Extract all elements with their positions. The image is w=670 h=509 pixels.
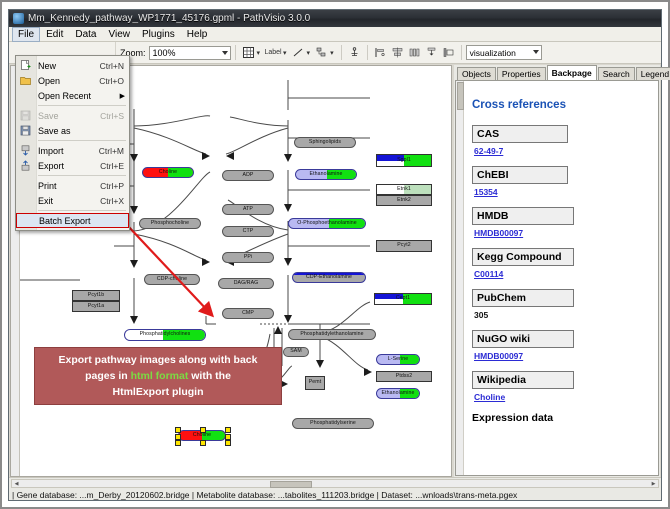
cross-references-title: Cross references [472, 99, 650, 111]
gene-product-label: Etnk1 [397, 187, 411, 192]
metabolite-label: Choline [193, 433, 211, 438]
file-menu-items: NewCtrl+NOpenCtrl+OOpen Recent▶SaveCtrl+… [16, 58, 129, 228]
file-menu-item-export[interactable]: ExportCtrl+E [16, 158, 129, 173]
tab-properties[interactable]: Properties [497, 67, 546, 80]
menu-item-label: Save [38, 111, 100, 121]
anchor-icon[interactable] [347, 45, 362, 60]
menu-item-label: New [38, 61, 100, 71]
screenshot-root: Mm_Kennedy_pathway_WP1771_45176.gpml - P… [0, 0, 670, 509]
xref-link[interactable]: Choline [474, 392, 650, 402]
metabolite-label: Ethanolamine [310, 172, 343, 177]
menu-item-shortcut: Ctrl+N [100, 61, 129, 71]
menu-item-label: Import [38, 146, 99, 156]
selection-handle[interactable] [175, 427, 181, 433]
xref-link[interactable]: 62-49-7 [474, 146, 650, 156]
tab-backpage[interactable]: Backpage [547, 65, 597, 80]
menu-bar: File Edit Data View Plugins Help [9, 27, 661, 42]
annotation-line-1: Export pathway images along with back [41, 352, 275, 368]
menu-separator [38, 175, 126, 176]
menu-separator [38, 105, 126, 106]
tab-legend[interactable]: Legend [636, 67, 670, 80]
metabolite-label: Phosphatidylethanolamine [300, 332, 363, 337]
menu-plugins[interactable]: Plugins [136, 28, 181, 41]
xref-database-header: CAS [472, 125, 568, 143]
visualization-combo[interactable]: visualization [466, 45, 542, 60]
annotation-line-2-post: with the [188, 370, 231, 382]
menu-item-label: Exit [38, 196, 100, 206]
tab-objects[interactable]: Objects [457, 67, 496, 80]
file-menu-item-save[interactable]: SaveCtrl+S [16, 108, 129, 123]
annotation-callout: Export pathway images along with back pa… [34, 347, 282, 405]
cross-reference-list: CAS62-49-7ChEBI15354HMDBHMDB00097Kegg Co… [472, 125, 650, 402]
file-menu-item-print[interactable]: PrintCtrl+P [16, 178, 129, 193]
menu-item-label: Open Recent [38, 91, 120, 101]
xref-link[interactable]: 15354 [474, 187, 650, 197]
stack-icon[interactable] [424, 45, 439, 60]
backpage-content: Cross references CAS62-49-7ChEBI15354HMD… [464, 81, 658, 475]
hscrollbar-thumb[interactable] [270, 481, 312, 488]
side-panel: Objects Properties Backpage Search Legen… [454, 65, 660, 477]
metabolite-node[interactable]: Ethanolamine [376, 388, 420, 399]
line-icon[interactable] [291, 45, 306, 60]
menu-edit[interactable]: Edit [40, 28, 69, 41]
gene-product-label: Ptdss2 [396, 374, 412, 379]
selection-handle[interactable] [225, 434, 231, 440]
menu-separator [38, 210, 126, 211]
file-menu-item-open[interactable]: OpenCtrl+O [16, 73, 129, 88]
selection-handle[interactable] [175, 440, 181, 446]
metabolite-node[interactable]: CDP-Ethanolamine [292, 272, 366, 283]
metabolite-node[interactable]: Phosphatidylserine [292, 418, 374, 429]
gene-product-label: Pcyt2 [397, 243, 410, 248]
metabolite-node[interactable]: Sphingolipids [294, 137, 356, 148]
menu-item-shortcut: Ctrl+E [100, 161, 129, 171]
metabolite-label: CDP-Ethanolamine [306, 275, 352, 280]
label-button[interactable]: Label [264, 45, 282, 60]
metabolite-label: Phosphatidylserine [310, 421, 356, 426]
file-menu-item-new[interactable]: NewCtrl+N [16, 58, 129, 73]
status-bar: ◀ ▶ | Gene database: ...m_Derby_20120602… [9, 477, 661, 500]
gene-product-node[interactable]: Etnk2 [376, 195, 432, 206]
submenu-arrow-icon: ▶ [120, 92, 129, 100]
gene-product-node[interactable]: Pemt [305, 376, 325, 390]
file-menu-item-import[interactable]: ImportCtrl+M [16, 143, 129, 158]
title-bar: Mm_Kennedy_pathway_WP1771_45176.gpml - P… [9, 10, 661, 27]
toolbar-separator-4 [461, 45, 462, 60]
file-menu-dropdown[interactable]: NewCtrl+NOpenCtrl+OOpen Recent▶SaveCtrl+… [15, 55, 130, 231]
xref-value: 305 [474, 310, 650, 320]
gene-product-node[interactable]: Sgpl1 [376, 154, 432, 167]
metabolite-node[interactable]: O-Phosphoethanolamine [288, 218, 366, 229]
align-left-icon[interactable] [373, 45, 388, 60]
zoom-combo[interactable]: 100% [149, 46, 231, 60]
menu-item-label: Open [38, 76, 99, 86]
file-menu-item-exit[interactable]: ExitCtrl+X [16, 193, 129, 208]
selection-handle[interactable] [225, 427, 231, 433]
grid-button[interactable] [241, 45, 256, 60]
grid-dropdown-icon[interactable]: ▾ [257, 49, 261, 57]
distribute-icon[interactable] [407, 45, 422, 60]
open-folder-icon [19, 75, 31, 86]
xref-database-header: Wikipedia [472, 371, 574, 389]
metabolite-node[interactable]: Phosphatidylethanolamine [288, 329, 376, 340]
xref-link[interactable]: HMDB00097 [474, 228, 650, 238]
menu-item-shortcut: Ctrl+O [99, 76, 129, 86]
selection-handle[interactable] [200, 440, 206, 446]
new-document-icon [19, 60, 31, 71]
side-panel-tabs: Objects Properties Backpage Search Legen… [454, 65, 660, 80]
gene-product-node[interactable]: Etnk1 [376, 184, 432, 195]
gene-product-label: Sgpl1 [397, 158, 411, 163]
backpage-panel: Cross references CAS62-49-7ChEBI15354HMD… [455, 80, 659, 476]
metabolite-node[interactable]: L-Serine [376, 354, 420, 365]
menu-file[interactable]: File [12, 27, 40, 42]
xref-database-header: HMDB [472, 207, 574, 225]
save-as-icon [19, 125, 31, 136]
menu-item-shortcut: Ctrl+X [100, 196, 129, 206]
app-icon [13, 13, 24, 24]
tab-search[interactable]: Search [598, 67, 635, 80]
zoom-value: 100% [153, 48, 176, 58]
shape-icon[interactable] [314, 45, 329, 60]
file-menu-item-batch-export[interactable]: Batch Export [16, 213, 129, 228]
align-center-icon[interactable] [390, 45, 405, 60]
pathvisio-application-window: Mm_Kennedy_pathway_WP1771_45176.gpml - P… [8, 9, 662, 501]
menu-item-shortcut: Ctrl+M [99, 146, 129, 156]
xref-link[interactable]: C00114 [474, 269, 650, 279]
menu-separator [38, 140, 126, 141]
metabolite-label: Sphingolipids [309, 140, 341, 145]
toolbar-separator-2 [341, 45, 342, 60]
xref-link[interactable]: HMDB00097 [474, 351, 650, 361]
xref-database-header: ChEBI [472, 166, 568, 184]
selection-handle[interactable] [175, 434, 181, 440]
file-menu-item-save-as[interactable]: Save as [16, 123, 129, 138]
menu-item-shortcut: Ctrl+S [100, 111, 129, 121]
scroll-left-icon[interactable]: ◀ [12, 480, 21, 487]
save-disk-icon [19, 110, 31, 121]
menu-item-label: Print [38, 181, 100, 191]
annotation-line-2: pages in html format with the [41, 368, 275, 384]
metabolite-label: O-Phosphoethanolamine [297, 221, 357, 226]
selection-handle[interactable] [225, 440, 231, 446]
import-icon [19, 145, 31, 156]
xref-database-header: PubChem [472, 289, 574, 307]
gene-product-label: Cept1 [396, 296, 410, 301]
scrollbar-thumb[interactable] [457, 82, 464, 110]
annotation-highlight: html format [131, 370, 189, 382]
expression-data-title: Expression data [472, 412, 650, 424]
xref-database-header: NuGO wiki [472, 330, 574, 348]
export-icon [19, 160, 31, 171]
menu-data[interactable]: Data [69, 28, 102, 41]
annotation-line-2-pre: pages in [85, 370, 131, 382]
label-dropdown-icon[interactable]: ▾ [283, 49, 287, 57]
gene-product-node[interactable]: Cept1 [374, 293, 432, 305]
scroll-right-icon[interactable]: ▶ [649, 480, 658, 487]
menu-view[interactable]: View [102, 28, 136, 41]
metabolite-label: SAM [290, 349, 302, 354]
horizontal-scrollbar[interactable]: ◀ ▶ [11, 479, 659, 488]
gene-product-label: Pemt [309, 380, 322, 385]
line-dropdown-icon[interactable]: ▾ [307, 49, 311, 57]
annotation-line-3: HtmlExport plugin [41, 384, 275, 400]
window-title: Mm_Kennedy_pathway_WP1771_45176.gpml - P… [28, 13, 310, 24]
status-text: | Gene database: ...m_Derby_20120602.bri… [9, 488, 661, 500]
menu-item-shortcut: Ctrl+P [100, 181, 129, 191]
toolbar-separator [235, 45, 236, 60]
metabolite-label: L-Serine [388, 357, 408, 362]
chevron-down-icon [222, 51, 228, 55]
menu-item-label: Batch Export [39, 216, 128, 226]
metabolite-label: Ethanolamine [382, 391, 415, 396]
group-icon[interactable] [441, 45, 456, 60]
metabolite-node[interactable]: Ethanolamine [295, 169, 357, 180]
gene-product-label: Etnk2 [397, 198, 411, 203]
menu-item-label: Export [38, 161, 100, 171]
gene-product-node[interactable]: Pcyt2 [376, 240, 432, 252]
toolbar-separator-3 [367, 45, 368, 60]
gene-product-node[interactable]: Ptdss2 [376, 371, 432, 382]
menu-help[interactable]: Help [181, 28, 214, 41]
shape-dropdown-icon[interactable]: ▾ [330, 49, 334, 57]
backpage-scrollbar[interactable] [456, 81, 464, 475]
file-menu-item-open-recent[interactable]: Open Recent▶ [16, 88, 129, 103]
xref-database-header: Kegg Compound [472, 248, 574, 266]
chevron-down-icon [533, 50, 539, 54]
visualization-value: visualization [470, 48, 516, 58]
menu-item-label: Save as [38, 126, 129, 136]
